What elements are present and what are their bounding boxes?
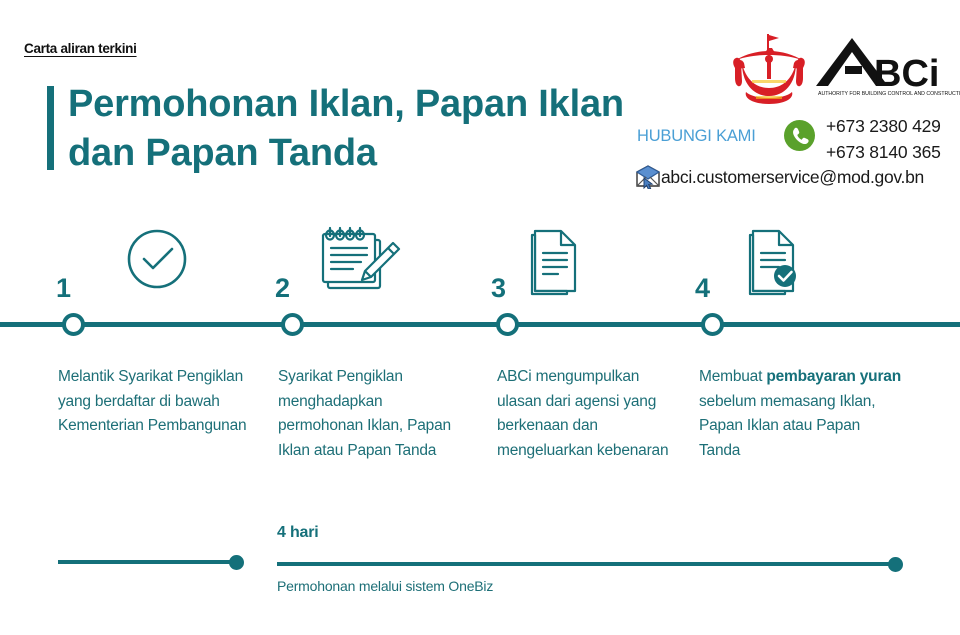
brunei-crest-logo <box>726 32 812 108</box>
step-text-4: Membuat pembayaran yuran sebelum memasan… <box>699 365 904 463</box>
check-circle-icon <box>126 228 188 295</box>
document-approved-icon <box>745 225 807 302</box>
page-title: Permohonan Iklan, Papan Iklan dan Papan … <box>68 80 628 178</box>
step-number-1: 1 <box>56 273 71 304</box>
step-text-2: Syarikat Pengiklan menghadapkan permohon… <box>278 365 463 463</box>
step-number-3: 3 <box>491 273 506 304</box>
step-text-1: Melantik Syarikat Pengiklan yang berdaft… <box>58 365 248 439</box>
duration-dot-2 <box>888 557 903 572</box>
duration-label-2: 4 hari <box>277 524 319 542</box>
phone-numbers: +673 2380 429 +673 8140 365 <box>826 113 941 165</box>
document-lines-icon <box>527 225 589 302</box>
step-text-4-bold: pembayaran yuran <box>766 368 901 385</box>
duration-caption-2: Permohonan melalui sistem OneBiz <box>277 578 493 594</box>
duration-dot-1 <box>229 555 244 570</box>
timeline-node-1 <box>62 313 85 336</box>
step-number-2: 2 <box>275 273 290 304</box>
step-text-4-suffix: sebelum memasang Iklan, Papan Iklan atau… <box>699 393 875 459</box>
infographic-page: Carta aliran terkini Permohonan Iklan, P… <box>0 0 960 635</box>
phone-number-1: +673 2380 429 <box>826 113 941 139</box>
step-text-4-prefix: Membuat <box>699 368 766 385</box>
abci-wordmark: BCi <box>874 53 939 95</box>
timeline-node-3 <box>496 313 519 336</box>
email-address: abci.customerservice@mod.gov.bn <box>661 167 924 188</box>
duration-bar-1 <box>58 560 238 564</box>
contact-label: HUBUNGI KAMI <box>637 127 756 146</box>
duration-bar-2 <box>277 562 897 566</box>
envelope-cursor-icon <box>635 165 663 189</box>
timeline-node-4 <box>701 313 724 336</box>
abci-logo: BCi AUTHORITY FOR BUILDING CONTROL AND C… <box>812 36 960 98</box>
timeline-axis <box>0 322 960 327</box>
timeline-node-2 <box>281 313 304 336</box>
abci-tagline: AUTHORITY FOR BUILDING CONTROL AND CONST… <box>818 91 960 97</box>
phone-number-2: +673 8140 365 <box>826 139 941 165</box>
step-text-3: ABCi mengumpulkan ulasan dari agensi yan… <box>497 365 687 463</box>
kicker-text: Carta aliran terkini <box>24 41 137 56</box>
step-number-4: 4 <box>695 273 710 304</box>
title-accent-bar <box>47 86 54 170</box>
phone-icon <box>784 120 815 151</box>
notepad-pencil-icon <box>315 222 401 303</box>
